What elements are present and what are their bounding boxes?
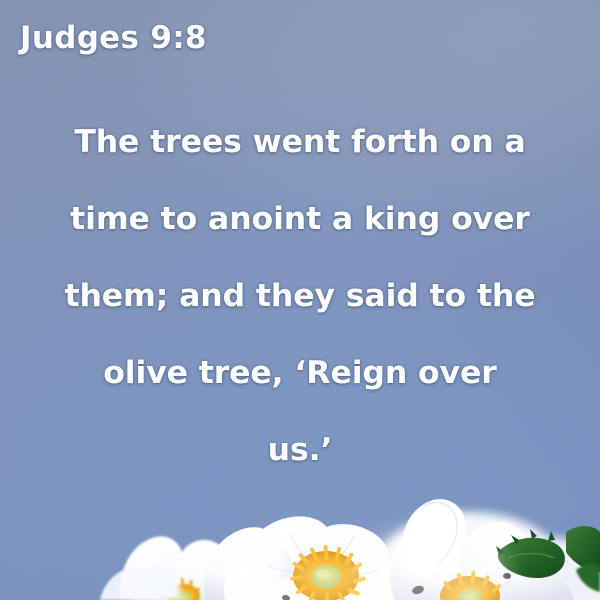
verse-text-block: The trees went forth on a time to anoint… [0,104,600,489]
verse-line: us.’ [34,412,566,489]
verse-line: them; and they said to the [34,258,566,335]
verse-line: olive tree, ‘Reign over [34,335,566,412]
verse-line: time to anoint a king over [34,181,566,258]
verse-image-card: Judges 9:8 The trees went forth on a tim… [0,0,600,600]
verse-line: The trees went forth on a [34,104,566,181]
scripture-reference-title: Judges 9:8 [20,20,207,56]
